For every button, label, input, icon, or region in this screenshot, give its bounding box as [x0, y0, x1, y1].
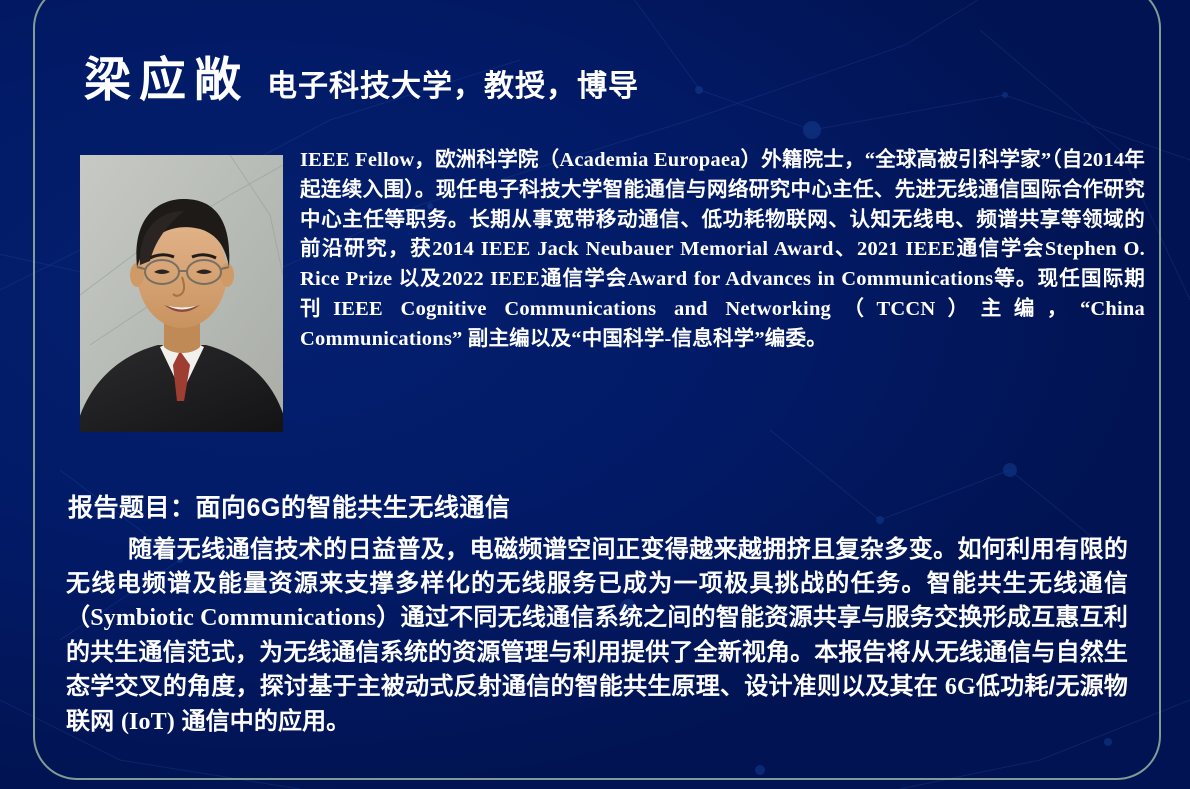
speaker-header: 梁应敞 电子科技大学，教授，博导 — [84, 58, 639, 105]
talk-title: 报告题目：面向6G的智能共生无线通信 — [68, 488, 510, 524]
speaker-affiliation: 电子科技大学，教授，博导 — [267, 72, 639, 102]
abstract-segment-4: 通信中的应用。 — [175, 708, 350, 735]
speaker-name: 梁应敞 — [84, 58, 249, 105]
portrait-illustration — [80, 155, 283, 432]
abstract-term-6g: 6G — [945, 674, 976, 700]
abstract-term-iot: (IoT) — [121, 709, 175, 735]
abstract-term-symbiotic-communications: Symbiotic Communications — [90, 605, 376, 631]
talk-abstract: 随着无线通信技术的日益普及，电磁频谱空间正变得越来越拥挤且复杂多变。如何利用有限… — [66, 533, 1128, 740]
speaker-slide: 梁应敞 电子科技大学，教授，博导 — [0, 0, 1190, 789]
speaker-bio: IEEE Fellow，欧洲科学院（Academia Europaea）外籍院士… — [300, 146, 1145, 355]
speaker-portrait-photo — [80, 155, 283, 432]
